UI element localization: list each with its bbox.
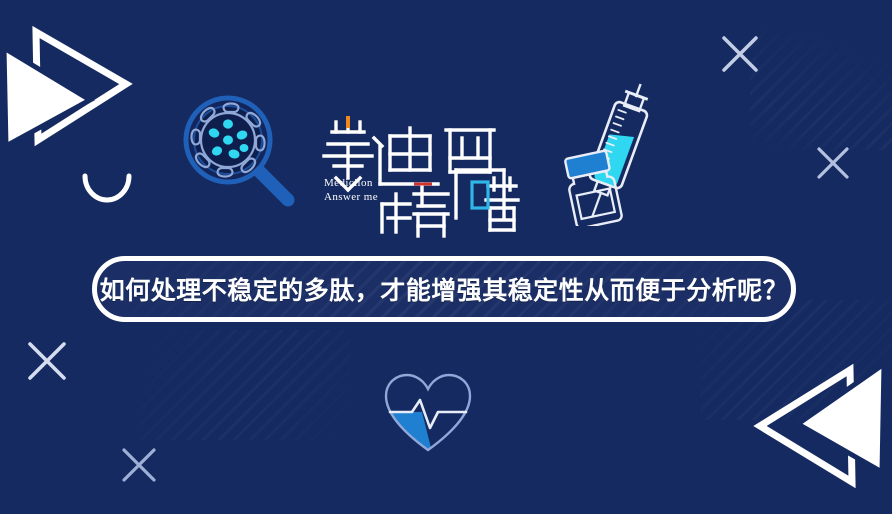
diagonal-stripes-left (140, 330, 350, 440)
logo-en-line1: Medicilon (324, 176, 378, 190)
x-mark-bottom-left-2-icon (116, 442, 162, 493)
campaign-banner: Medicilon Answer me 如何处理不稳定的多肽，才能增强其稳定性从… (0, 0, 892, 514)
logo-highlight-box (472, 182, 488, 208)
logo-en-line2: Answer me (324, 190, 378, 204)
open-arc-icon (78, 172, 136, 229)
question-pill: 如何处理不稳定的多肽，才能增强其稳定性从而便于分析呢？ (92, 256, 796, 322)
x-mark-bottom-left-icon (22, 336, 72, 391)
syringe-and-vial-icon (548, 76, 673, 231)
heart-pulse-icon (382, 372, 474, 459)
question-text: 如何处理不稳定的多肽，才能增强其稳定性从而便于分析呢？ (100, 271, 789, 307)
syringe-icon (576, 78, 657, 223)
double-triangle-arrow-right-icon (0, 22, 144, 157)
magnifier-virus-icon (176, 90, 296, 215)
x-mark-top-right-icon (716, 30, 764, 83)
medicilon-answer-me-logo: Medicilon Answer me (318, 108, 528, 238)
diagonal-stripes-top-right (750, 30, 892, 150)
logo-english-text: Medicilon Answer me (324, 176, 378, 204)
vial-bottle-icon (563, 150, 623, 226)
double-triangle-arrow-left-icon (742, 362, 892, 495)
x-mark-right-icon (812, 142, 854, 189)
